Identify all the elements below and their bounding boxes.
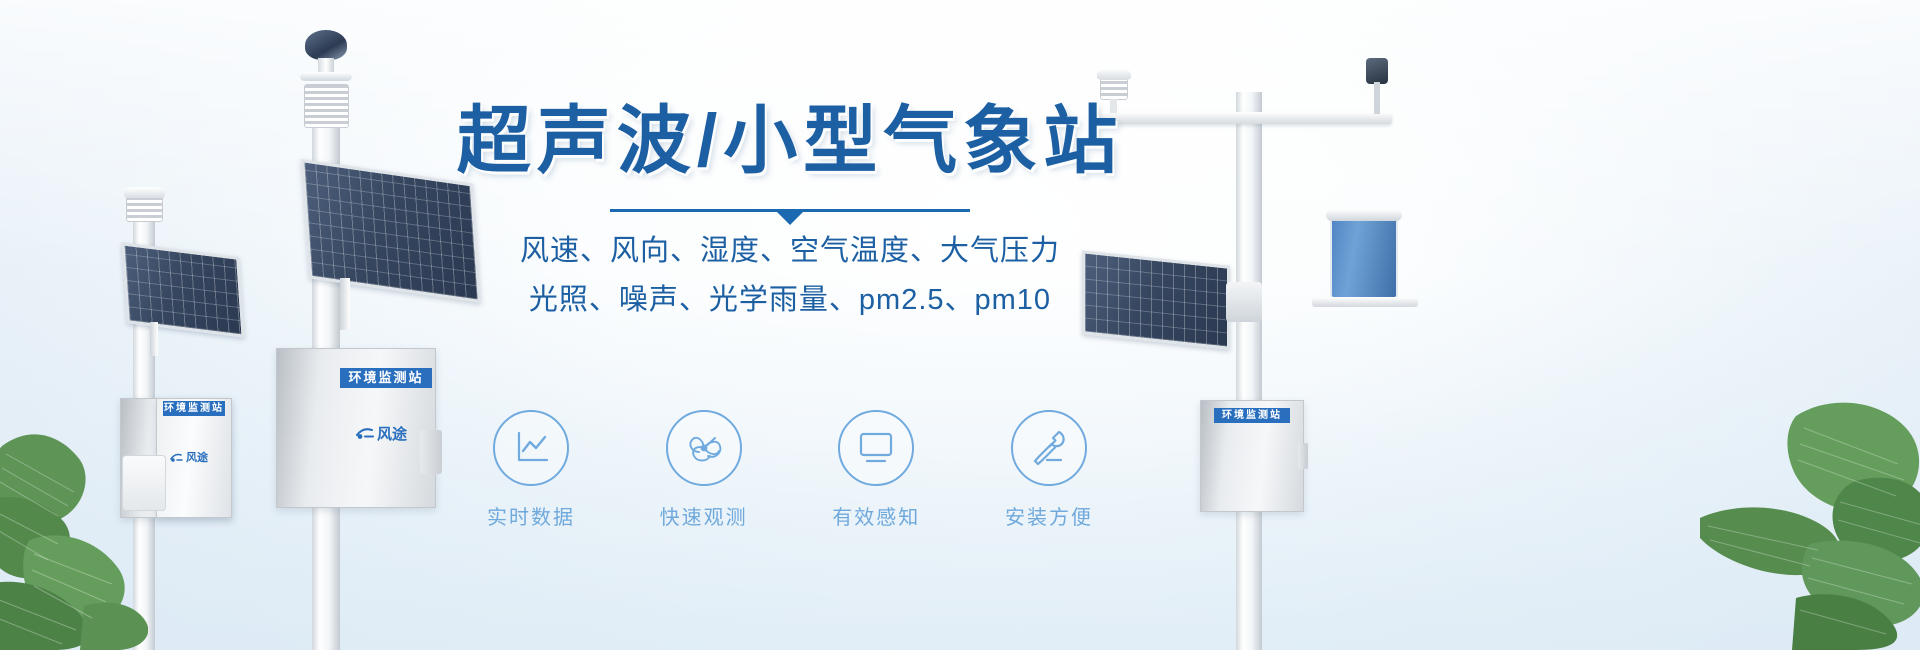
- left-banana-leaves: [0, 388, 148, 650]
- right-arm-anemometer-stem: [1374, 82, 1380, 114]
- sky-gradient-overlay: [0, 0, 1920, 650]
- banner-text-block: 超声波/小型气象站 风速、风向、湿度、空气温度、大气压力 光照、噪声、光学雨量、…: [440, 100, 1140, 323]
- right-station-mast: [1236, 92, 1262, 650]
- right-cabinet-label: 环境监测站: [1214, 408, 1290, 423]
- rain-gauge-rim: [1326, 209, 1402, 221]
- feature-ring: [493, 410, 569, 486]
- feature-item-fast-observation[interactable]: 快速观测: [629, 410, 779, 530]
- right-cabinet-latch: [1298, 443, 1308, 469]
- center-cabinet-side-box: [420, 430, 442, 474]
- feature-label: 快速观测: [629, 501, 779, 530]
- feature-label: 实时数据: [456, 501, 606, 530]
- brand-mark-icon: [170, 452, 183, 463]
- feature-ring: [1011, 410, 1087, 486]
- center-sensor-disc: [300, 72, 352, 81]
- line-chart-icon: [510, 427, 552, 469]
- feature-label: 安装方便: [974, 501, 1124, 530]
- feature-ring: [666, 410, 742, 486]
- rain-gauge-shelf: [1312, 297, 1418, 307]
- product-banner: 环境监测站 风途 环境监测站: [0, 0, 1920, 650]
- brand-mark-icon: [356, 426, 374, 441]
- right-arm-anemometer-icon: [1366, 58, 1388, 84]
- left-cabinet-label: 环境监测站: [163, 401, 225, 416]
- feature-ring: [838, 410, 914, 486]
- right-panel-joint: [1226, 282, 1262, 322]
- right-arm-shield-cap: [1097, 68, 1131, 80]
- center-panel-bracket: [340, 278, 350, 330]
- monitor-icon: [854, 428, 898, 468]
- feature-item-easy-install[interactable]: 安装方便: [974, 410, 1124, 530]
- right-arm-radiation-shield: [1100, 78, 1128, 100]
- center-cabinet-brand: 风途: [356, 423, 407, 444]
- ultrasonic-wind-sensor-icon: [305, 30, 347, 60]
- rain-gauge: [1330, 215, 1398, 299]
- right-station-crossarm: [1100, 112, 1392, 124]
- feature-label: 有效感知: [801, 501, 951, 530]
- feature-list: 实时数据 快速观测: [440, 410, 1140, 530]
- page-title: 超声波/小型气象站: [440, 100, 1140, 183]
- radar-sensor-icon: [682, 426, 726, 470]
- left-radiation-shield: [126, 196, 163, 222]
- divider-triangle-icon: [777, 212, 803, 225]
- subtitle-line-2: 光照、噪声、光学雨量、pm2.5、pm10: [440, 278, 1140, 323]
- subtitle-line-1: 风速、风向、湿度、空气温度、大气压力: [440, 229, 1140, 274]
- left-brand-text: 风途: [186, 449, 208, 465]
- center-cabinet-label: 环境监测站: [340, 368, 432, 388]
- left-shield-cap: [124, 187, 165, 198]
- feature-item-effective-sensing[interactable]: 有效感知: [801, 410, 951, 530]
- left-cabinet-brand: 风途: [170, 449, 208, 465]
- center-radiation-shield: [304, 84, 349, 128]
- left-solar-panel: [121, 242, 244, 338]
- left-panel-bracket: [150, 322, 158, 356]
- center-brand-text: 风途: [377, 423, 407, 444]
- right-banana-leaves: [1700, 330, 1920, 650]
- feature-item-realtime-data[interactable]: 实时数据: [456, 410, 606, 530]
- wrench-icon: [1027, 426, 1071, 470]
- title-divider: [610, 205, 970, 219]
